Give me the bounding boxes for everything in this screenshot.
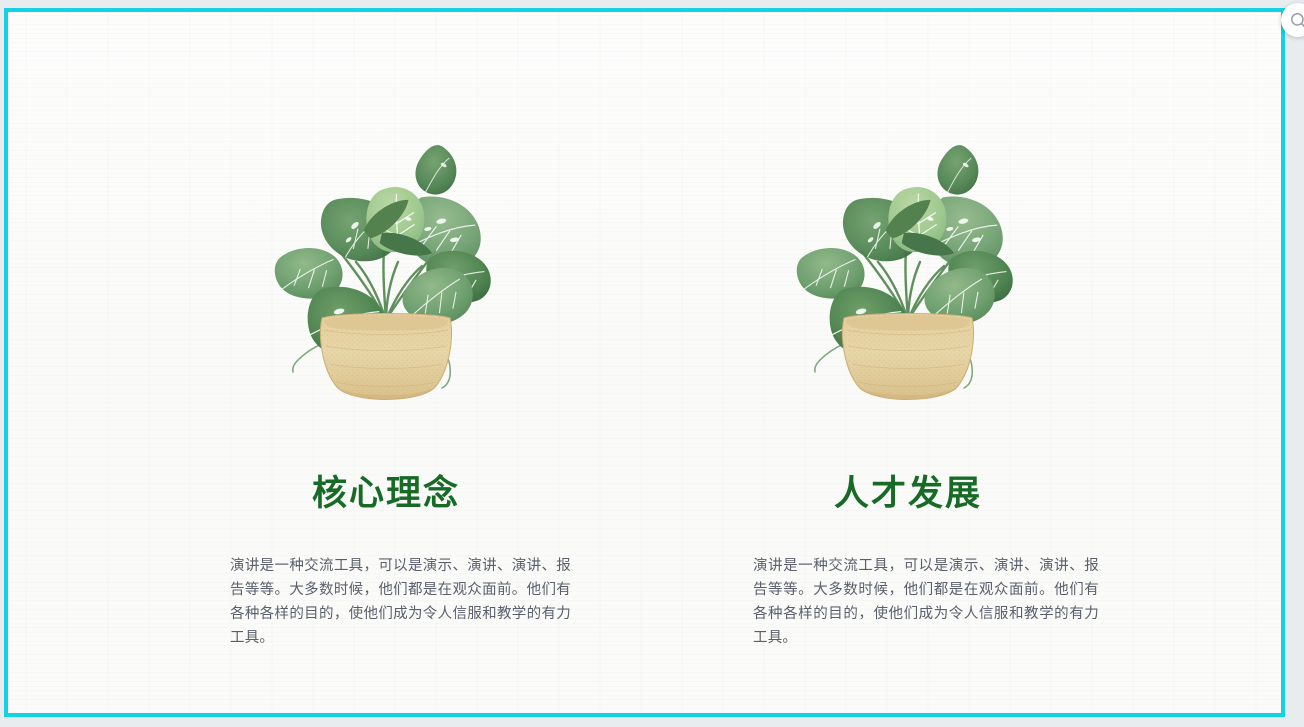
slide-viewer: 核心理念 演讲是一种交流工具，可以是演示、演讲、演讲、报告等等。大多数时候，他们… <box>0 0 1304 727</box>
search-icon <box>1290 12 1304 29</box>
presentation-slide: 核心理念 演讲是一种交流工具，可以是演示、演讲、演讲、报告等等。大多数时候，他们… <box>4 8 1285 717</box>
content-column-core-concept: 核心理念 演讲是一种交流工具，可以是演示、演讲、演讲、报告等等。大多数时候，他们… <box>126 12 646 713</box>
monstera-plant-illustration-left <box>236 124 536 424</box>
card-body-core-concept: 演讲是一种交流工具，可以是演示、演讲、演讲、报告等等。大多数时候，他们都是在观众… <box>230 554 571 650</box>
content-column-talent-development: 人才发展 演讲是一种交流工具，可以是演示、演讲、演讲、报告等等。大多数时候，他们… <box>648 12 1168 713</box>
card-body-talent-development: 演讲是一种交流工具，可以是演示、演讲、演讲、报告等等。大多数时候，他们都是在观众… <box>753 554 1099 650</box>
monstera-plant-illustration-right <box>758 124 1058 424</box>
card-title-talent-development: 人才发展 <box>648 475 1168 514</box>
card-title-core-concept: 核心理念 <box>126 475 646 514</box>
